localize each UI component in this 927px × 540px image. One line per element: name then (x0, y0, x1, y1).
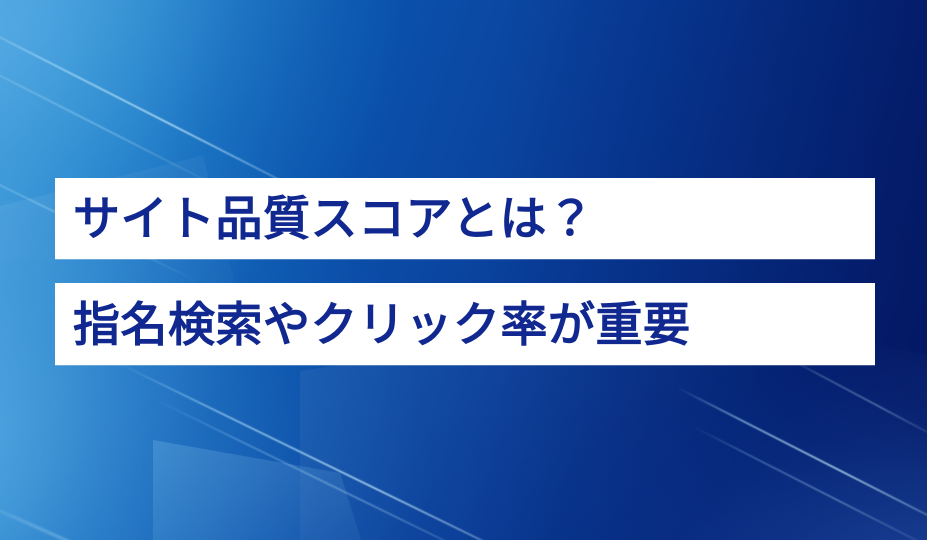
headline-line-1: サイト品質スコアとは？ (73, 195, 595, 242)
headline-bar-secondary: 指名検索やクリック率が重要 (55, 283, 875, 365)
headline-group: サイト品質スコアとは？ 指名検索やクリック率が重要 (55, 178, 875, 365)
headline-bar-primary: サイト品質スコアとは？ (55, 178, 875, 259)
promo-banner: サイト品質スコアとは？ 指名検索やクリック率が重要 (0, 0, 927, 540)
headline-bar-gap (55, 259, 875, 283)
headline-line-2: 指名検索やクリック率が重要 (73, 301, 691, 348)
